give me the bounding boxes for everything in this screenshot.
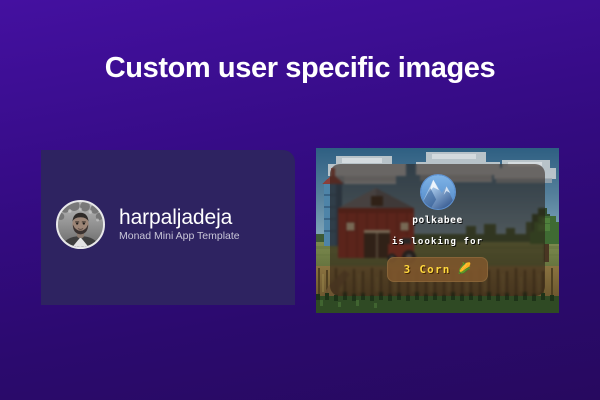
profile-card[interactable]: harpaljadeja Monad Mini App Template	[41, 150, 295, 305]
cards-row: harpaljadeja Monad Mini App Template	[0, 148, 600, 318]
corn-icon: 🌽	[458, 264, 472, 275]
farm-quest-card[interactable]: polkabee is looking for 3 Corn 🌽	[316, 148, 559, 313]
farm-quest-content: polkabee is looking for 3 Corn 🌽	[330, 164, 545, 296]
profile-text-block: harpaljadeja Monad Mini App Template	[119, 206, 240, 243]
farm-username: polkabee	[412, 215, 463, 226]
farm-looking-for-text: is looking for	[392, 237, 483, 247]
profile-subtitle: Monad Mini App Template	[119, 230, 240, 243]
profile-username: harpaljadeja	[119, 206, 240, 229]
reward-badge[interactable]: 3 Corn 🌽	[387, 257, 489, 282]
page-title: Custom user specific images	[0, 52, 600, 85]
profile-row: harpaljadeja Monad Mini App Template	[56, 200, 240, 249]
reward-label: 3 Corn	[404, 263, 451, 276]
user-photo-avatar-icon	[56, 200, 105, 249]
blue-mountain-avatar-icon	[420, 174, 456, 210]
